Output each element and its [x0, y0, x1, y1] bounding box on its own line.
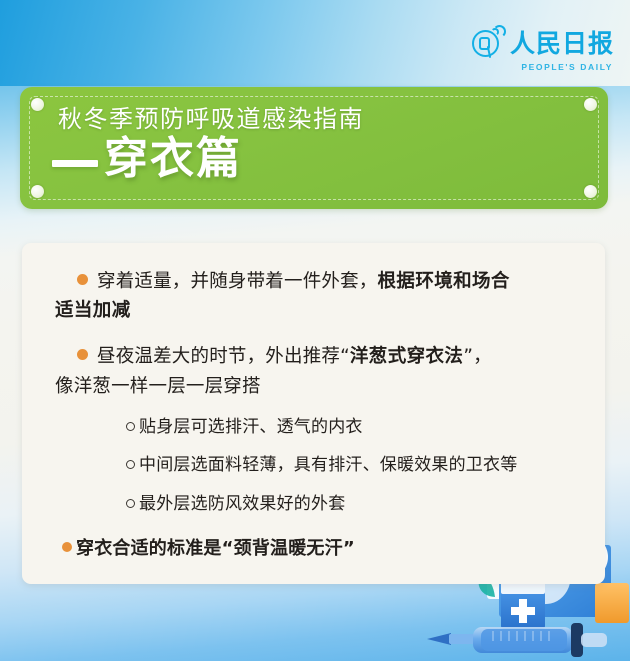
hollow-circle-icon [126, 460, 135, 469]
item1-bold: 根据环境和场合 [378, 271, 510, 292]
rivet-dot-icon-top-right [584, 98, 597, 111]
item1-normal: 穿着适量，并随身带着一件外套， [97, 271, 378, 292]
list-item: 穿着适量，并随身带着一件外套，根据环境和场合适当加减 [44, 267, 581, 325]
list-item: 穿衣合适的标准是“颈背温暖无汗” [44, 535, 581, 563]
logo-row: 人民日报 [471, 26, 614, 60]
list-item-text: 贴身层可选排汗、透气的内衣 [139, 415, 363, 441]
banner-title: 秋冬季预防呼吸道感染指南 [58, 106, 364, 134]
list-item-text: 穿衣合适的标准是“颈背温暖无汗” [76, 535, 355, 563]
peoples-daily-logo: 人民日报 PEOPLE'S DAILY [471, 26, 614, 72]
list-item: 最外层选防风效果好的外套 [44, 492, 581, 518]
list-item: 昼夜温差大的时节，外出推荐“洋葱式穿衣法”，像洋葱一样一层一层穿搭 [44, 342, 581, 400]
syringe-icon [427, 623, 607, 657]
rivet-dot-icon-bottom-right [584, 185, 597, 198]
list-item: 中间层选面料轻薄，具有排汗、保暖效果的卫衣等 [44, 453, 581, 479]
list-item: 贴身层可选排汗、透气的内衣 [44, 415, 581, 441]
list-item-text: 最外层选防风效果好的外套 [139, 492, 345, 518]
item2-quote-open: “ [340, 346, 350, 367]
white-cross-icon [511, 599, 535, 623]
poster-root: 人民日报 PEOPLE'S DAILY 秋冬季预防呼吸道感染指南 穿衣篇 穿着适… [0, 0, 630, 661]
item2-line2: 像洋葱一样一层一层穿搭 [55, 372, 492, 401]
filled-dot-icon [62, 542, 72, 552]
illustration-orange-card [595, 583, 629, 623]
at-sign-signal-icon [471, 26, 505, 60]
item2-quote-close: ” [463, 346, 473, 367]
rivet-dot-icon-bottom-left [31, 185, 44, 198]
filled-dot-icon [77, 349, 88, 360]
logo-name-en: PEOPLE'S DAILY [521, 62, 613, 72]
header-banner: 秋冬季预防呼吸道感染指南 穿衣篇 [20, 87, 608, 209]
banner-subtitle: 穿衣篇 [104, 136, 242, 182]
item2-tail: ， [473, 346, 492, 367]
medicine-bottle-icon [501, 581, 545, 629]
list-item-text: 穿着适量，并随身带着一件外套，根据环境和场合适当加减 [97, 267, 510, 325]
list-item-text: 昼夜温差大的时节，外出推荐“洋葱式穿衣法”，像洋葱一样一层一层穿搭 [97, 342, 492, 400]
item2-normal: 昼夜温差大的时节，外出推荐 [97, 346, 340, 367]
banner-dash-icon [52, 160, 98, 167]
logo-name-cn: 人民日报 [510, 31, 614, 56]
hollow-circle-icon [126, 422, 135, 431]
filled-dot-icon [77, 274, 88, 285]
hollow-circle-icon [126, 499, 135, 508]
item2-bold: 洋葱式穿衣法 [350, 346, 463, 367]
rivet-dot-icon-top-left [31, 98, 44, 111]
list-item-text: 中间层选面料轻薄，具有排汗、保暖效果的卫衣等 [139, 453, 517, 479]
item1-bold-line2: 适当加减 [55, 296, 510, 325]
banner-subtitle-row: 穿衣篇 [52, 136, 242, 182]
content-card: 穿着适量，并随身带着一件外套，根据环境和场合适当加减 昼夜温差大的时节，外出推荐… [22, 243, 605, 584]
